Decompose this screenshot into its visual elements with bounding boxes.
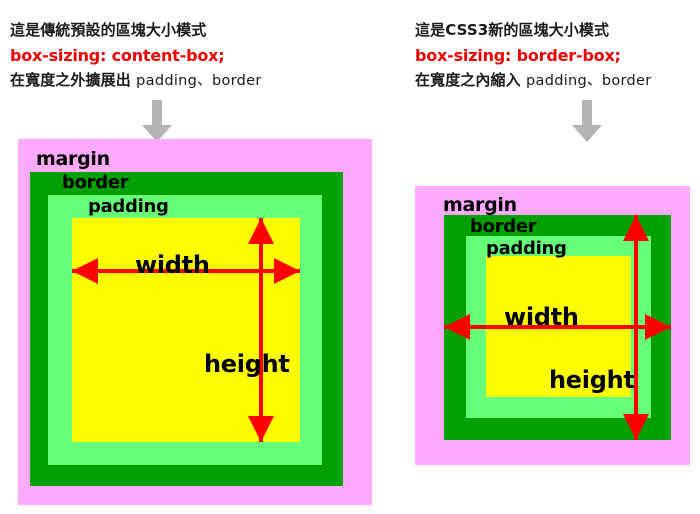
label-padding: padding	[486, 238, 567, 259]
caption-code-line: box-sizing: border-box;	[415, 43, 652, 68]
down-arrow-gray-icon	[142, 100, 172, 142]
label-margin: margin	[36, 148, 110, 170]
label-width: width	[135, 251, 210, 279]
arrow-head-bottom	[623, 414, 649, 440]
arrow-head-left	[72, 258, 98, 284]
caption-line-3-latin: padding、border	[136, 73, 262, 89]
caption-line-3: 在寬度之外擴展出 padding、border	[10, 68, 262, 94]
caption-line-3-cjk: 在寬度之內縮入	[415, 71, 521, 89]
arrow-line	[259, 218, 263, 442]
down-arrow-gray-icon	[572, 100, 602, 142]
label-border: border	[470, 216, 536, 237]
arrow-head-right	[274, 258, 300, 284]
label-width: width	[504, 303, 579, 331]
arrow-shaft	[152, 100, 162, 127]
caption-code-line: box-sizing: content-box;	[10, 43, 262, 68]
caption-line-3: 在寬度之內縮入 padding、border	[415, 68, 652, 94]
arrow-head	[572, 125, 602, 142]
content-box-panel: 這是傳統預設的區塊大小模式 box-sizing: content-box; 在…	[0, 0, 400, 514]
arrow-line	[634, 215, 638, 440]
label-margin: margin	[443, 194, 517, 216]
caption-line-3-latin: padding、border	[526, 73, 652, 89]
caption-line-1: 這是CSS3新的區塊大小模式	[415, 18, 652, 43]
label-height: height	[204, 350, 290, 378]
caption-line-3-cjk: 在寬度之外擴展出	[10, 71, 131, 89]
arrow-shaft	[582, 100, 592, 127]
label-padding: padding	[88, 196, 169, 217]
arrow-head-bottom	[248, 416, 274, 442]
border-box-caption: 這是CSS3新的區塊大小模式 box-sizing: border-box; 在…	[415, 18, 652, 94]
caption-line-1: 這是傳統預設的區塊大小模式	[10, 18, 262, 43]
height-measure-arrow	[623, 215, 649, 440]
label-border: border	[62, 172, 128, 193]
arrow-head-top	[248, 218, 274, 244]
arrow-head-top	[623, 215, 649, 241]
height-measure-arrow	[248, 218, 274, 442]
label-height: height	[549, 366, 635, 394]
arrow-head-left	[444, 314, 470, 340]
content-box-caption: 這是傳統預設的區塊大小模式 box-sizing: content-box; 在…	[10, 18, 262, 94]
